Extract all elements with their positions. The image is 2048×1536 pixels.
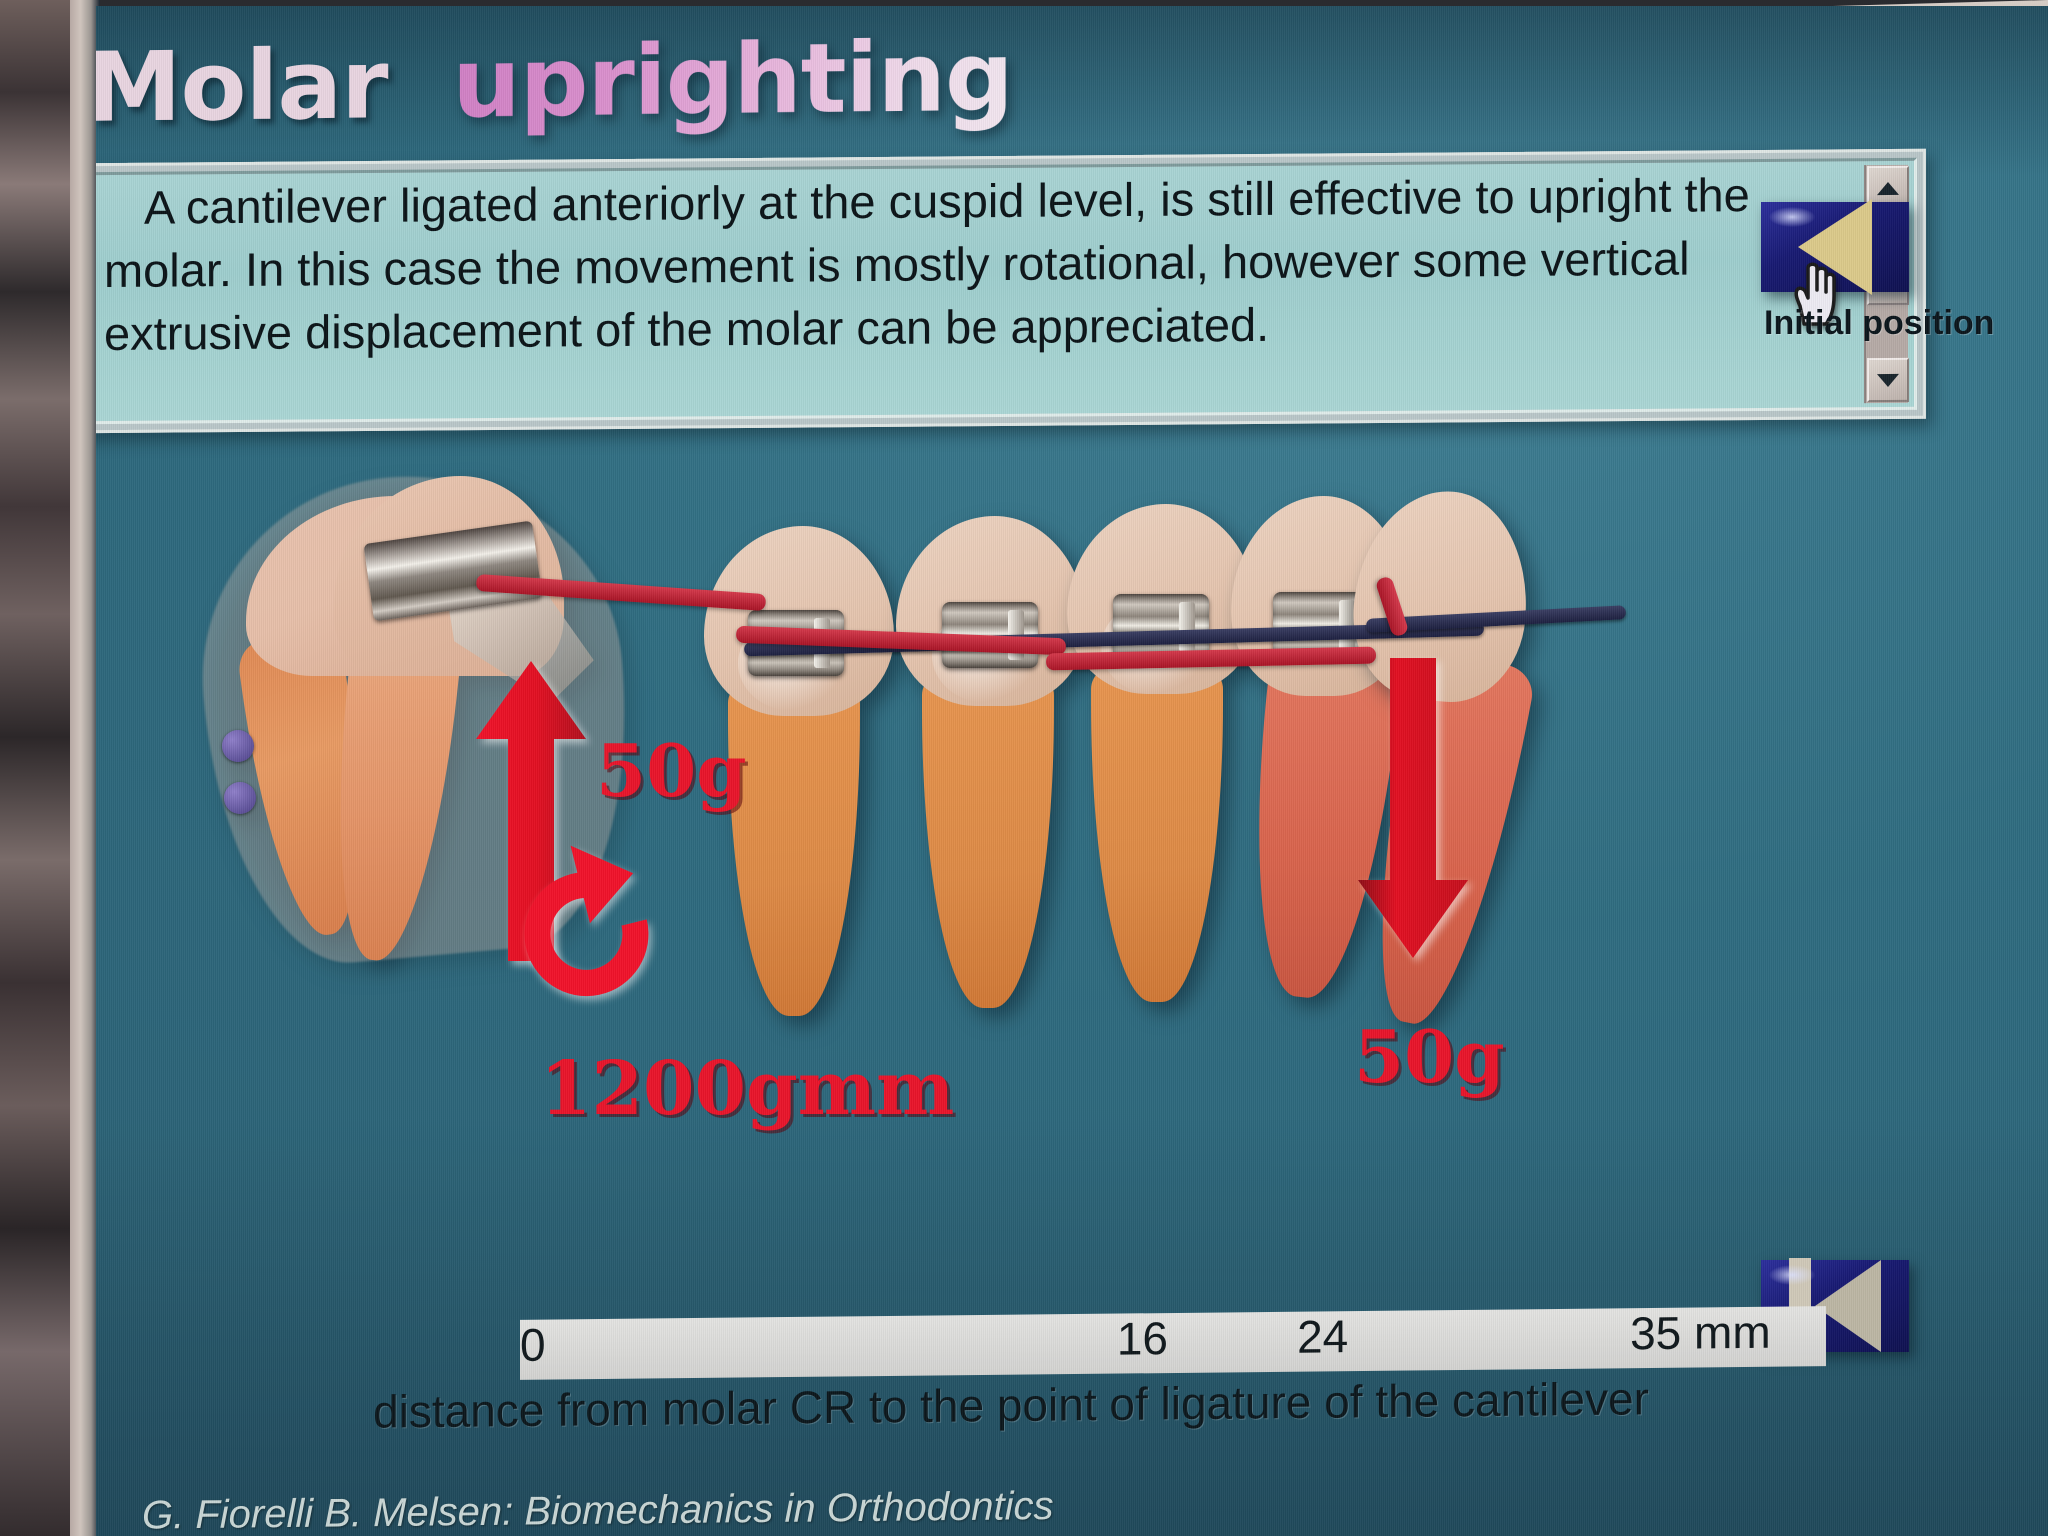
arrow-down-icon	[1358, 658, 1468, 958]
center-of-resistance-dot-1	[222, 730, 254, 762]
moment-label-molar: 1200gmm	[540, 1046, 954, 1132]
tooth-diagram: 50g 1200gmm 50g	[96, 436, 2048, 1096]
rotation-arrow-icon	[496, 836, 696, 1026]
scroll-down-button[interactable]	[1867, 358, 1909, 402]
presentation-screen: Molar uprighting A cantilever ligated an…	[96, 6, 2048, 1536]
chevron-down-icon	[1877, 373, 1899, 386]
page-title-word-1: Molar	[96, 28, 388, 144]
initial-position-label: Initial position	[1764, 304, 1994, 343]
description-panel: A cantilever ligated anteriorly at the c…	[96, 149, 1926, 434]
distance-scale-bar: 0 16 24 35 mm	[520, 1306, 1826, 1380]
description-panel-inner: A cantilever ligated anteriorly at the c…	[96, 158, 1917, 424]
tooth-root	[922, 668, 1054, 1008]
scale-tick-24: 24	[1297, 1309, 1348, 1364]
moment-rotation-arrow	[496, 836, 696, 1031]
page-title-word-2: uprighting	[452, 21, 1012, 140]
scale-caption: distance from molar CR to the point of l…	[96, 1368, 1926, 1441]
page-title: Molar uprighting	[96, 8, 2038, 144]
description-text: A cantilever ligated anteriorly at the c…	[104, 164, 1804, 366]
tooth-root	[728, 676, 860, 1016]
center-of-resistance-dot-2	[224, 782, 256, 814]
intrusive-force-arrow-down	[1358, 658, 1468, 958]
scale-tick-16: 16	[1117, 1311, 1168, 1366]
force-label-anterior: 50g	[1354, 1014, 1505, 1099]
scale-tick-35mm: 35 mm	[1630, 1305, 1771, 1360]
screenshot-root: Molar uprighting A cantilever ligated an…	[0, 0, 2048, 1536]
scale-tick-0: 0	[520, 1318, 546, 1372]
chevron-up-icon	[1877, 181, 1899, 194]
source-credit: G. Fiorelli B. Melsen: Biomechanics in O…	[96, 1474, 2028, 1536]
force-label-molar: 50g	[596, 728, 747, 813]
